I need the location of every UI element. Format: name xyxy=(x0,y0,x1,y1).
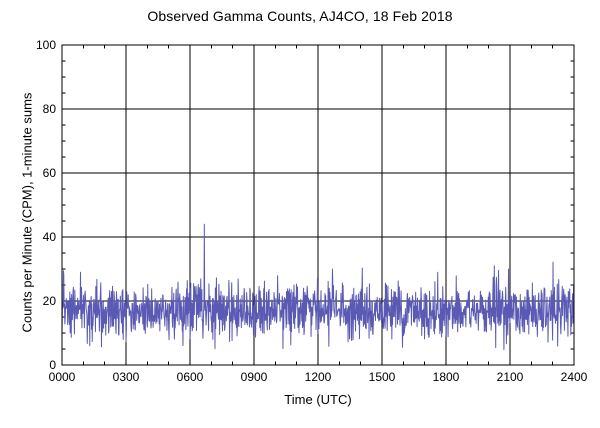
plot-area: 000003000600090012001500180021002400 020… xyxy=(0,0,600,428)
x-tick-label: 2100 xyxy=(497,370,524,384)
x-tick-label: 1500 xyxy=(369,370,396,384)
x-tick-label: 0300 xyxy=(113,370,140,384)
x-tick-labels: 000003000600090012001500180021002400 xyxy=(49,370,588,384)
y-tick-label: 60 xyxy=(43,166,57,180)
y-axis-label: Counts per Minute (CPM), 1-minute sums xyxy=(20,53,35,373)
x-tick-label: 0600 xyxy=(177,370,204,384)
y-tick-labels: 020406080100 xyxy=(36,38,56,372)
gamma-counts-chart: Observed Gamma Counts, AJ4CO, 18 Feb 201… xyxy=(0,0,600,428)
y-tick-label: 20 xyxy=(43,294,57,308)
y-tick-label: 0 xyxy=(49,358,56,372)
x-tick-label: 2400 xyxy=(561,370,588,384)
y-tick-label: 100 xyxy=(36,38,56,52)
y-tick-label: 80 xyxy=(43,102,57,116)
x-tick-label: 0900 xyxy=(241,370,268,384)
x-tick-label: 1800 xyxy=(433,370,460,384)
x-tick-label: 0000 xyxy=(49,370,76,384)
x-axis-label: Time (UTC) xyxy=(62,392,574,407)
x-tick-label: 1200 xyxy=(305,370,332,384)
y-tick-label: 40 xyxy=(43,230,57,244)
